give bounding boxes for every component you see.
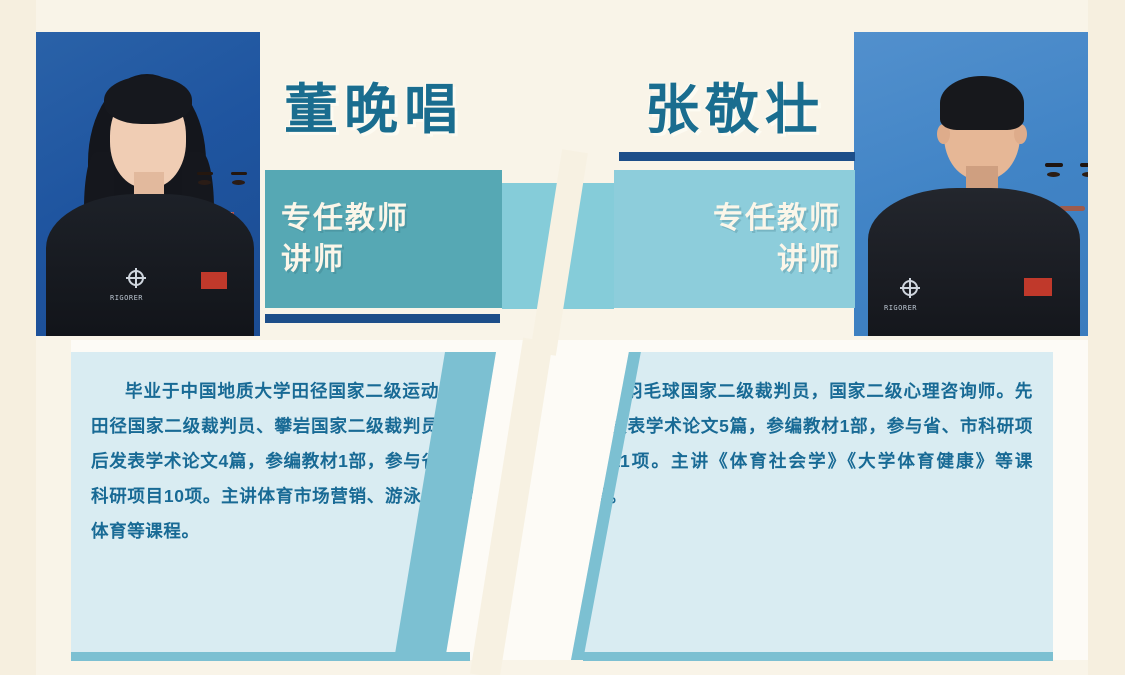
teacher-name-dong-wanchang: 董晚唱	[284, 83, 464, 137]
photo-zhang-jingzhuang: RIGORER	[854, 32, 1088, 336]
sport-logo-icon	[902, 280, 918, 296]
brand-text: RIGORER	[110, 294, 143, 302]
name-underline-right	[619, 152, 855, 161]
teacher-name-zhang-jingzhuang: 张敬壮	[645, 83, 825, 137]
jacket-shape	[46, 194, 254, 336]
jacket-shape	[868, 188, 1080, 336]
brand-text: RIGORER	[884, 304, 917, 312]
eye-left	[198, 180, 211, 185]
name-underline-left	[265, 314, 500, 323]
role-label-dong-wanchang: 专任教师 讲师	[281, 198, 409, 281]
sport-logo-icon	[128, 270, 144, 286]
bio-text: 羽毛球国家二级裁判员，国家二级心理咨询师。先后发表学术论文5篇，参编教材1部，参…	[591, 374, 1033, 514]
bio-right-bottom-accent	[583, 652, 1053, 661]
role-label-zhang-jingzhuang: 专任教师 讲师	[655, 198, 841, 281]
bio-dong-wanchang: 毕业于中国地质大学田径国家二级运动员，田径国家二级裁判员、攀岩国家二级裁判员，先…	[71, 352, 496, 660]
teacher-profile-slide: RIGORER RIGORER 董晚唱 张敬壮 专任教师 讲师	[0, 0, 1125, 675]
bio-text: 毕业于中国地质大学田径国家二级运动员，田径国家二级裁判员、攀岩国家二级裁判员，先…	[91, 374, 476, 549]
hair-fringe	[104, 76, 192, 124]
national-flag-icon	[1024, 278, 1052, 296]
eye-right	[232, 180, 245, 185]
role-line-1: 专任教师	[281, 202, 409, 235]
bio-zhang-jingzhuang: 羽毛球国家二级裁判员，国家二级心理咨询师。先后发表学术论文5篇，参编教材1部，参…	[571, 352, 1053, 660]
bio-left-bottom-accent	[71, 652, 470, 661]
eye-left	[1047, 172, 1060, 177]
eyebrow-left	[197, 172, 213, 175]
role-line-1: 专任教师	[713, 202, 841, 235]
role-line-2: 讲师	[281, 239, 409, 280]
eyebrow-right	[231, 172, 247, 175]
photo-dong-wanchang: RIGORER	[36, 32, 260, 336]
hair-shape	[940, 76, 1024, 130]
eyebrow-left	[1045, 163, 1063, 167]
role-line-2: 讲师	[655, 239, 841, 280]
eye-right	[1082, 172, 1088, 177]
eyebrow-right	[1080, 163, 1088, 167]
national-flag-icon	[201, 272, 227, 289]
